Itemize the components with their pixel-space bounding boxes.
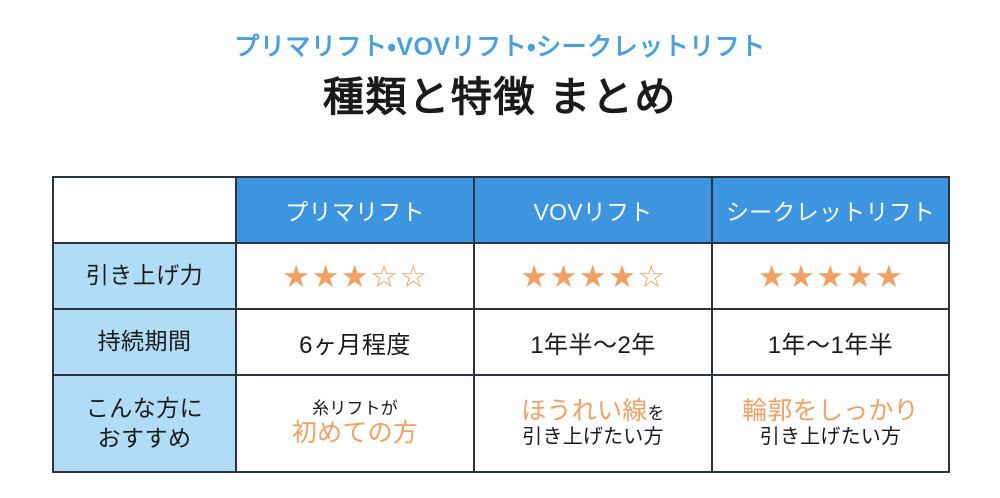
cell-recommended-vov: ほうれい線を 引き上げたい方 bbox=[474, 375, 712, 472]
row-label-line-1: こんな方に bbox=[54, 394, 235, 424]
star-filled-icon: ★ bbox=[341, 261, 369, 292]
cell-recommended-prima: 糸リフトが 初めての方 bbox=[236, 375, 474, 472]
star-rating-vov: ★ ★ ★ ★ ☆ bbox=[475, 261, 711, 292]
star-filled-icon: ★ bbox=[875, 261, 903, 292]
heading-block: プリマリフト・VOVリフト・シークレットリフト 種類と特徴 まとめ bbox=[0, 0, 1000, 121]
recommendation-vov: ほうれい線を 引き上げたい方 bbox=[475, 397, 711, 450]
star-filled-icon: ★ bbox=[846, 261, 874, 292]
rec-prima-line-2: 初めての方 bbox=[292, 419, 418, 449]
rec-vov-particle: を bbox=[648, 404, 665, 423]
star-filled-icon: ★ bbox=[520, 261, 548, 292]
rec-vov-line-2: 引き上げたい方 bbox=[522, 426, 663, 450]
cell-lift-power-prima: ★ ★ ★ ☆ ☆ bbox=[236, 243, 474, 309]
recommendation-prima: 糸リフトが 初めての方 bbox=[237, 399, 473, 449]
subtitle: プリマリフト・VOVリフト・シークレットリフト bbox=[0, 34, 1000, 62]
table-corner-blank bbox=[53, 177, 236, 243]
column-header-vov: VOVリフト bbox=[474, 177, 712, 243]
cell-duration-prima: 6ヶ月程度 bbox=[236, 309, 474, 375]
rec-vov-highlight: ほうれい線 bbox=[521, 397, 647, 425]
comparison-table: プリマリフト VOVリフト シークレットリフト 引き上げ力 ★ ★ ★ ☆ ☆ bbox=[52, 176, 950, 473]
table-header-row: プリマリフト VOVリフト シークレットリフト bbox=[53, 177, 949, 243]
row-label-recommended-for: こんな方に おすすめ bbox=[53, 375, 236, 472]
rec-secret-line-1: 輪郭をしっかり bbox=[742, 397, 919, 427]
star-filled-icon: ★ bbox=[608, 261, 636, 292]
page-title: 種類と特徴 まとめ bbox=[0, 74, 1000, 121]
star-empty-icon: ☆ bbox=[637, 261, 665, 292]
table-row-recommended-for: こんな方に おすすめ 糸リフトが 初めての方 ほうれい線を 引き上げたい方 bbox=[53, 375, 949, 472]
row-label-line-2: おすすめ bbox=[54, 424, 235, 454]
row-label-lift-power: 引き上げ力 bbox=[53, 243, 236, 309]
rec-secret-highlight: 輪郭をしっかり bbox=[742, 397, 919, 425]
infographic-page: プリマリフト・VOVリフト・シークレットリフト 種類と特徴 まとめ プリマリフト… bbox=[0, 0, 1000, 498]
rec-prima-line-1: 糸リフトが bbox=[312, 399, 398, 419]
recommendation-secret: 輪郭をしっかり 引き上げたい方 bbox=[713, 397, 948, 450]
star-rating-secret: ★ ★ ★ ★ ★ bbox=[713, 261, 948, 292]
rec-vov-line-1: ほうれい線を bbox=[521, 397, 665, 427]
row-label-duration: 持続期間 bbox=[53, 309, 236, 375]
column-header-secret: シークレットリフト bbox=[712, 177, 949, 243]
star-filled-icon: ★ bbox=[550, 261, 578, 292]
rec-secret-line-2: 引き上げたい方 bbox=[760, 426, 901, 450]
star-empty-icon: ☆ bbox=[399, 261, 427, 292]
table-row-lift-power: 引き上げ力 ★ ★ ★ ☆ ☆ ★ ★ bbox=[53, 243, 949, 309]
star-empty-icon: ☆ bbox=[370, 261, 398, 292]
star-filled-icon: ★ bbox=[579, 261, 607, 292]
comparison-table-wrapper: プリマリフト VOVリフト シークレットリフト 引き上げ力 ★ ★ ★ ☆ ☆ bbox=[52, 176, 948, 473]
table-row-duration: 持続期間 6ヶ月程度 1年半〜2年 1年〜1年半 bbox=[53, 309, 949, 375]
cell-duration-secret: 1年〜1年半 bbox=[712, 309, 949, 375]
star-rating-prima: ★ ★ ★ ☆ ☆ bbox=[237, 261, 473, 292]
column-header-prima: プリマリフト bbox=[236, 177, 474, 243]
cell-duration-vov: 1年半〜2年 bbox=[474, 309, 712, 375]
star-filled-icon: ★ bbox=[816, 261, 844, 292]
cell-lift-power-vov: ★ ★ ★ ★ ☆ bbox=[474, 243, 712, 309]
star-filled-icon: ★ bbox=[787, 261, 815, 292]
star-filled-icon: ★ bbox=[758, 261, 786, 292]
star-filled-icon: ★ bbox=[312, 261, 340, 292]
cell-recommended-secret: 輪郭をしっかり 引き上げたい方 bbox=[712, 375, 949, 472]
cell-lift-power-secret: ★ ★ ★ ★ ★ bbox=[712, 243, 949, 309]
star-filled-icon: ★ bbox=[282, 261, 310, 292]
